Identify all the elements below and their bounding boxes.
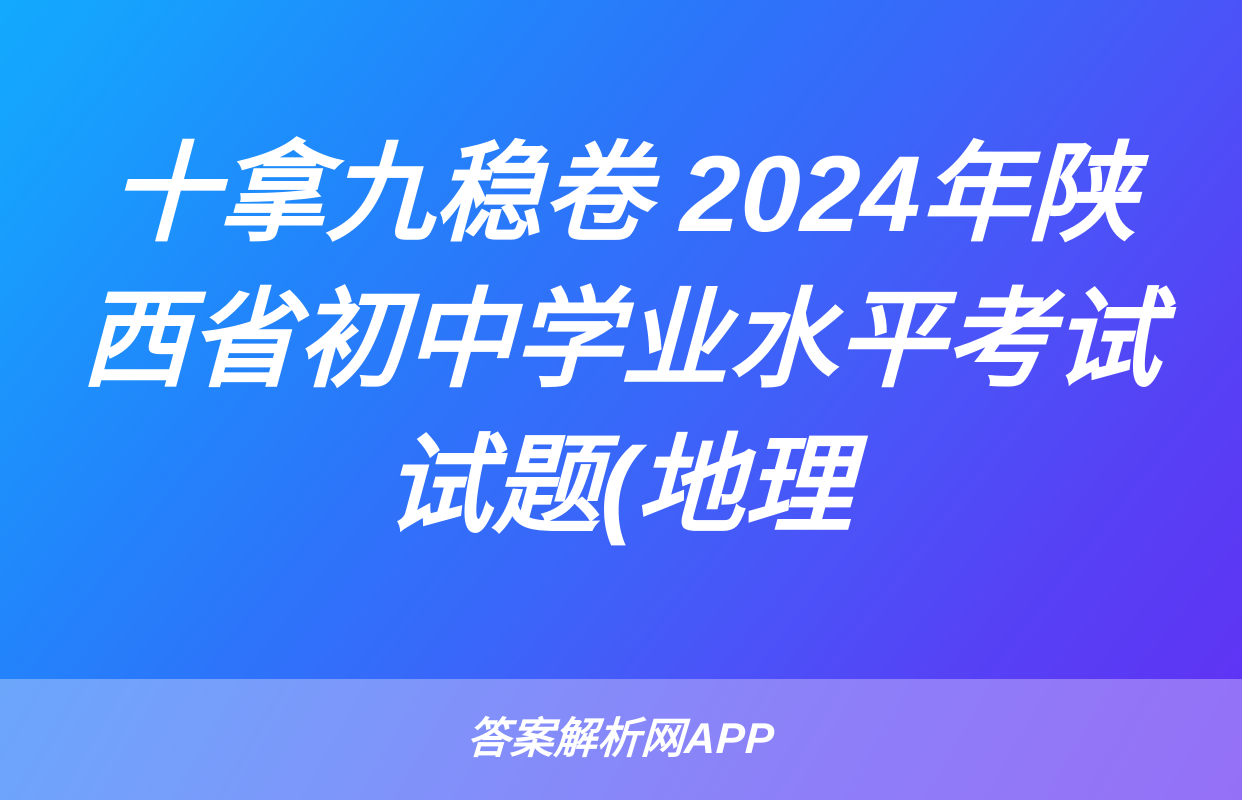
page-title: 十拿九稳卷 2024年陕西省初中学业水平考试试题(地理 [70,121,1172,558]
hero-title-area: 十拿九稳卷 2024年陕西省初中学业水平考试试题(地理 [0,0,1242,679]
watermark-bar: 答案解析网APP [0,679,1242,800]
poster-card: 十拿九稳卷 2024年陕西省初中学业水平考试试题(地理 答案解析网APP [0,0,1242,800]
watermark-text: 答案解析网APP [466,718,776,761]
